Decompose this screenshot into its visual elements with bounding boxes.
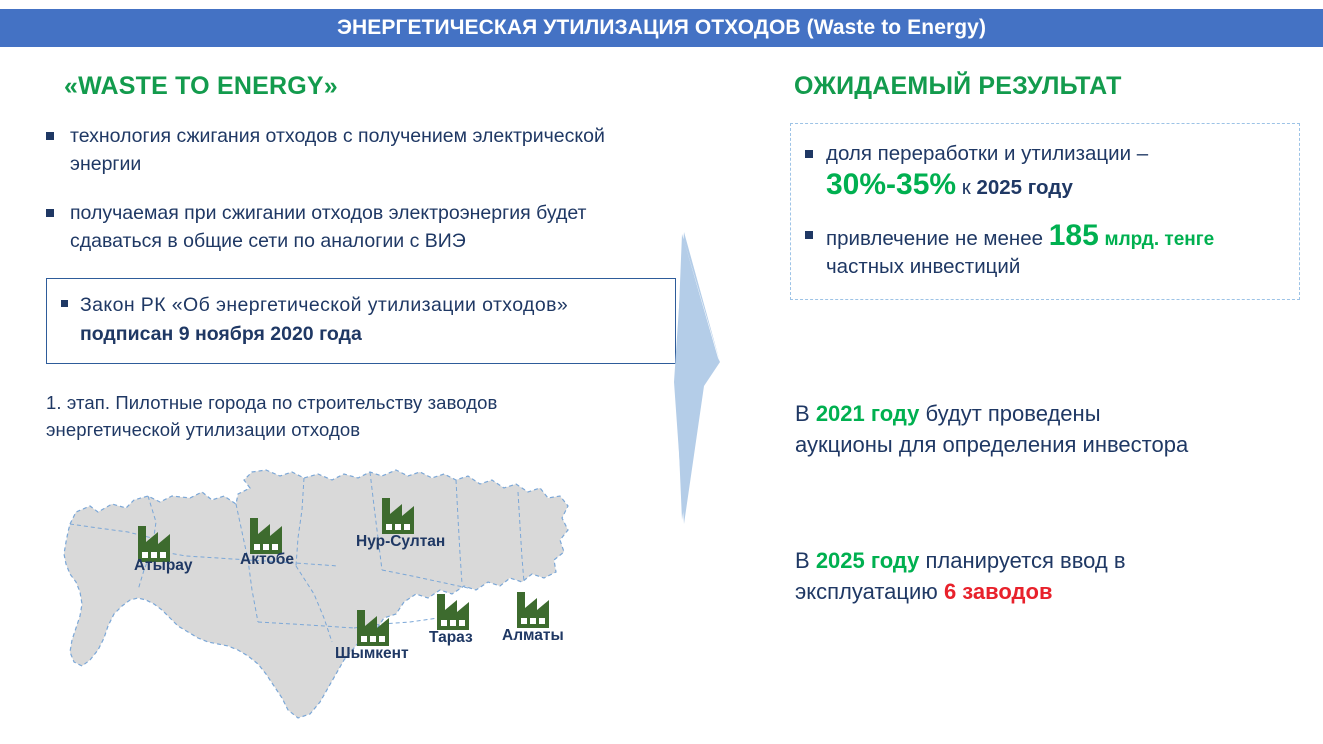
note2-year: 2025 году [816, 548, 920, 573]
note-plants-2025: В 2025 году планируется ввод в эксплуата… [795, 545, 1315, 607]
square-bullet-icon [805, 231, 813, 239]
bullet-item-grid: получаемая при сжигании отходов электроэ… [46, 200, 676, 255]
map-regions [64, 470, 568, 718]
result-item-investment: привлечение не менее 185 млрд. тенге час… [805, 221, 1287, 282]
investment-amount: 185 [1049, 219, 1099, 252]
note2-line-2-prefix: эксплуатацию [795, 579, 938, 604]
recycling-share-percent: 30%-35% [826, 168, 956, 201]
expected-result-box: доля переработки и утилизации – 30%-35% … [790, 123, 1300, 300]
city-label-shymkent: Шымкент [335, 645, 409, 662]
investment-prefix: привлечение не менее [826, 227, 1043, 250]
square-bullet-icon [46, 209, 54, 217]
city-label-atyrau: Атырау [134, 557, 193, 574]
bullet-line-1: получаемая при сжигании отходов электроэ… [70, 202, 586, 224]
stage-description: 1. этап. Пилотные города по строительств… [46, 390, 676, 444]
bullet-text: получаемая при сжигании отходов электроэ… [70, 200, 676, 255]
square-bullet-icon [46, 132, 54, 140]
map-marker-taraz[interactable]: Тараз [429, 594, 473, 646]
bullet-line-2: сдаваться в общие сети по аналогии с ВИЭ [70, 230, 466, 252]
law-line-2: подписан 9 ноября 2020 года [80, 321, 659, 349]
kazakhstan-map: Атырау Актобе Ну [52, 466, 612, 728]
recycling-share-prep: к [962, 176, 971, 199]
page-title: ЭНЕРГЕТИЧЕСКАЯ УТИЛИЗАЦИЯ ОТХОДОВ (Waste… [337, 16, 986, 40]
note1-rest: будут проведены [925, 401, 1100, 426]
map-marker-almaty[interactable]: Алматы [502, 592, 564, 644]
square-bullet-icon [805, 150, 813, 158]
result-text: доля переработки и утилизации – 30%-35% … [826, 140, 1148, 203]
stage-line-1: 1. этап. Пилотные города по строительств… [46, 392, 497, 413]
right-section-heading: ОЖИДАЕМЫЙ РЕЗУЛЬТАТ [794, 72, 1300, 101]
recycling-share-year: 2025 году [976, 176, 1072, 199]
law-box: Закон РК «Об энергетической утилизации о… [46, 278, 676, 364]
left-column: «WASTE TO ENERGY» технология сжигания от… [46, 72, 676, 444]
right-column: ОЖИДАЕМЫЙ РЕЗУЛЬТАТ доля переработки и у… [790, 72, 1300, 300]
left-section-heading: «WASTE TO ENERGY» [64, 72, 676, 101]
city-label-nur-sultan: Нур-Султан [356, 533, 445, 550]
note1-line-2: аукционы для определения инвестора [795, 432, 1188, 457]
investment-unit: млрд. тенге [1105, 229, 1215, 250]
law-text: Закон РК «Об энергетической утилизации о… [80, 292, 659, 349]
note-auctions-2021: В 2021 году будут проведены аукционы для… [795, 398, 1315, 460]
city-label-almaty: Алматы [502, 627, 564, 644]
header-banner: ЭНЕРГЕТИЧЕСКАЯ УТИЛИЗАЦИЯ ОТХОДОВ (Waste… [0, 9, 1323, 47]
law-bullet-item: Закон РК «Об энергетической утилизации о… [61, 292, 659, 349]
bullet-line-1: технология сжигания отходов с получением [70, 125, 467, 147]
note1-year: 2021 году [816, 401, 920, 426]
note1-prefix: В [795, 401, 810, 426]
stage-line-2: энергетической утилизации отходов [46, 419, 360, 440]
right-arrow-icon [668, 232, 798, 524]
note2-plants-count: 6 заводов [944, 579, 1053, 604]
note2-rest: планируется ввод в [925, 548, 1125, 573]
factory-icon [517, 592, 549, 628]
city-label-aktobe: Актобе [240, 551, 294, 568]
bullet-item-technology: технология сжигания отходов с получением… [46, 123, 676, 178]
bullet-text: технология сжигания отходов с получением… [70, 123, 676, 178]
result-text: привлечение не менее 185 млрд. тенге час… [826, 221, 1214, 282]
note2-prefix: В [795, 548, 810, 573]
square-bullet-icon [61, 300, 68, 307]
factory-icon [437, 594, 469, 630]
result-item-recycling-share: доля переработки и утилизации – 30%-35% … [805, 140, 1287, 203]
map-outline [64, 470, 568, 718]
investment-line-2: частных инвестиций [826, 255, 1020, 278]
city-label-taraz: Тараз [429, 629, 473, 646]
law-line-1: Закон РК «Об энергетической утилизации о… [80, 292, 659, 320]
recycling-share-label: доля переработки и утилизации – [826, 142, 1148, 165]
